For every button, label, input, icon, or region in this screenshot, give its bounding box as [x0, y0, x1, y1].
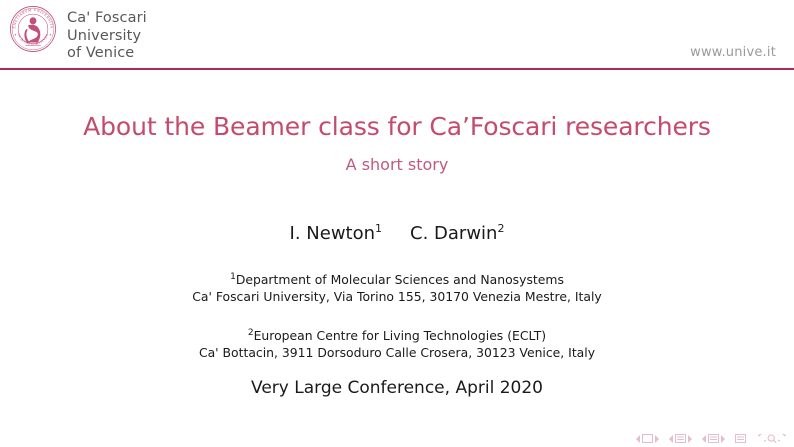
title-block: About the Beamer class for Ca’Foscari re…	[0, 112, 794, 175]
affiliation-1-address: Ca' Foscari University, Via Torino 155, …	[0, 288, 794, 305]
subsection-icon[interactable]	[708, 434, 719, 443]
beamer-navigation-symbols	[636, 434, 788, 443]
affiliation-list: 1Department of Molecular Sciences and Na…	[0, 271, 794, 361]
beamer-title-slide: VENETIARVM VNIVERSITAS IN BONO FORTITVDO	[0, 0, 794, 447]
left-triangle-icon[interactable]	[636, 435, 641, 443]
right-triangle-icon[interactable]	[654, 435, 659, 443]
author-1: I. Newton1	[290, 222, 383, 246]
forward-arrow-icon[interactable]	[778, 434, 788, 443]
left-triangle-icon[interactable]	[669, 435, 674, 443]
site-url[interactable]: www.unive.it	[690, 45, 776, 60]
affiliation-2-organization: 2European Centre for Living Technologies…	[248, 328, 546, 343]
presentation-title: About the Beamer class for Ca’Foscari re…	[0, 112, 794, 142]
slide-header: VENETIARVM VNIVERSITAS IN BONO FORTITVDO	[0, 0, 794, 70]
affiliation-1-organization: 1Department of Molecular Sciences and Na…	[230, 272, 564, 287]
affiliation-2-org-text: European Centre for Living Technologies …	[254, 328, 547, 343]
section-icon[interactable]	[735, 434, 746, 443]
slide-navigation[interactable]	[636, 434, 659, 443]
author-2: C. Darwin2	[410, 222, 504, 246]
section-navigation[interactable]	[735, 434, 746, 443]
frame-navigation[interactable]	[669, 434, 692, 443]
right-triangle-icon[interactable]	[720, 435, 725, 443]
affiliation-2: 2European Centre for Living Technologies…	[0, 327, 794, 361]
university-name-line-3: of Venice	[67, 45, 147, 63]
university-name-line-1: Ca' Foscari	[67, 10, 147, 28]
author-1-name: I. Newton	[290, 223, 376, 244]
document-navigation[interactable]	[756, 434, 788, 443]
right-triangle-icon[interactable]	[687, 435, 692, 443]
left-triangle-icon[interactable]	[702, 435, 707, 443]
presentation-date: Very Large Conference, April 2020	[0, 377, 794, 399]
author-1-marker: 1	[375, 222, 382, 235]
affiliation-1-org-text: Department of Molecular Sciences and Nan…	[236, 272, 564, 287]
university-name-line-2: University	[67, 28, 147, 46]
frame-icon[interactable]	[675, 434, 686, 443]
presentation-subtitle: A short story	[0, 155, 794, 175]
author-2-marker: 2	[497, 222, 504, 235]
author-2-name: C. Darwin	[410, 223, 497, 244]
affiliation-1: 1Department of Molecular Sciences and Na…	[0, 271, 794, 305]
ca-foscari-seal-icon: VENETIARVM VNIVERSITAS IN BONO FORTITVDO	[9, 4, 57, 54]
university-logo: VENETIARVM VNIVERSITAS IN BONO FORTITVDO	[9, 4, 147, 63]
subsection-navigation[interactable]	[702, 434, 725, 443]
university-name: Ca' Foscari University of Venice	[67, 4, 147, 63]
back-arrow-icon[interactable]	[756, 434, 766, 443]
author-list: I. Newton1C. Darwin2	[0, 222, 794, 246]
affiliation-2-address: Ca' Bottacin, 3911 Dorsoduro Calle Crose…	[0, 344, 794, 361]
header-divider	[0, 68, 794, 70]
search-icon[interactable]	[767, 434, 777, 443]
slide-icon[interactable]	[642, 434, 653, 443]
